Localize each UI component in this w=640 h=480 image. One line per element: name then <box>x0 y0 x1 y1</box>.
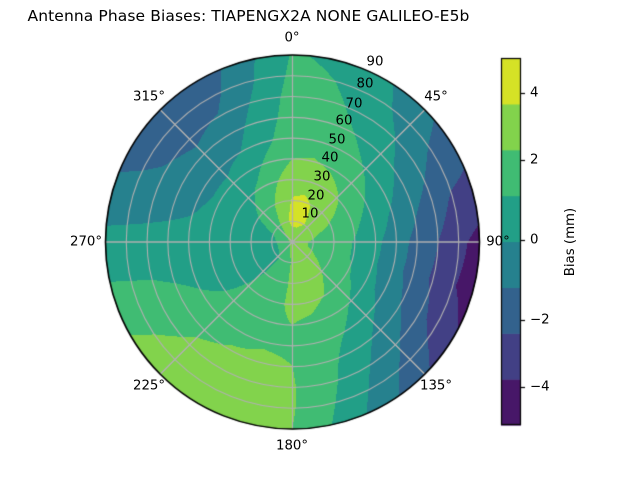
colorbar-tick-2: 0 <box>530 233 538 246</box>
elevation-tick-80: 80 <box>357 77 374 90</box>
elevation-tick-10: 10 <box>302 207 319 220</box>
elevation-tick-50: 50 <box>329 133 346 146</box>
colorbar-tick-4: −4 <box>530 380 550 393</box>
azimuth-tick-0: 0° <box>284 31 299 44</box>
elevation-tick-60: 60 <box>336 114 353 127</box>
azimuth-tick-90: 90° <box>486 235 510 248</box>
colorbar-axis-label: Bias (mm) <box>564 207 577 275</box>
colorbar-tick-3: −2 <box>530 313 550 326</box>
elevation-tick-40: 40 <box>322 151 339 164</box>
azimuth-tick-225: 225° <box>133 379 165 392</box>
elevation-tick-20: 20 <box>308 189 325 202</box>
elevation-tick-30: 30 <box>314 170 331 183</box>
azimuth-tick-180: 180° <box>276 439 308 452</box>
azimuth-tick-45: 45° <box>424 90 448 103</box>
elevation-tick-90: 90 <box>367 55 384 68</box>
page-title: Antenna Phase Biases: TIAPENGX2A NONE GA… <box>0 9 497 25</box>
figure-canvas-container: Antenna Phase Biases: TIAPENGX2A NONE GA… <box>0 0 640 480</box>
colorbar-tick-1: 2 <box>530 153 538 166</box>
azimuth-tick-315: 315° <box>133 90 165 103</box>
azimuth-tick-135: 135° <box>420 379 452 392</box>
azimuth-tick-270: 270° <box>70 235 102 248</box>
colorbar-tick-0: 4 <box>530 86 538 99</box>
elevation-tick-70: 70 <box>346 97 363 110</box>
